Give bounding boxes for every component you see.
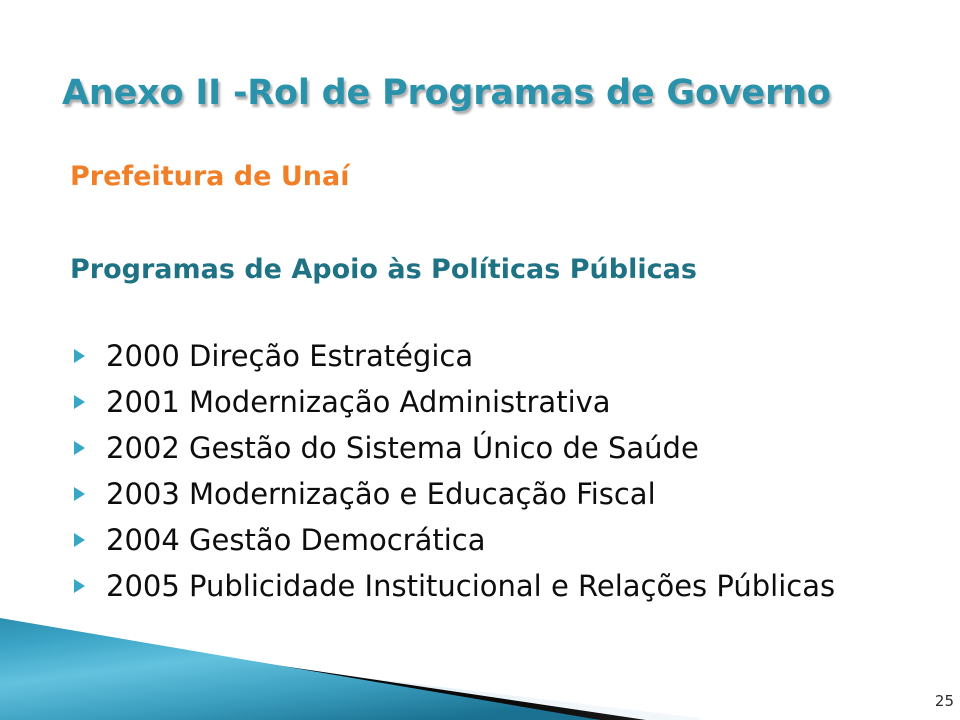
heading-spacer	[70, 194, 902, 253]
list-item-label: 2000 Direção Estratégica	[106, 339, 473, 373]
program-list: 2000 Direção Estratégica 2001 Modernizaç…	[70, 336, 902, 606]
list-item-label: 2001 Modernização Administrativa	[106, 385, 611, 419]
list-item-label: 2002 Gestão do Sistema Único de Saúde	[106, 431, 699, 465]
section-heading: Programas de Apoio às Políticas Públicas	[70, 253, 902, 287]
list-spacer	[70, 287, 902, 336]
triangle-right-icon	[74, 533, 85, 547]
slide-body: Prefeitura de Unaí Programas de Apoio às…	[70, 160, 902, 612]
triangle-right-icon	[74, 441, 85, 455]
list-item-label: 2003 Modernização e Educação Fiscal	[106, 477, 656, 511]
triangle-right-icon	[74, 579, 85, 593]
page-title: Anexo II -Rol de Programas de Governo	[62, 72, 922, 114]
organization-heading: Prefeitura de Unaí	[70, 160, 902, 194]
list-item-label: 2005 Publicidade Institucional e Relaçõe…	[106, 569, 835, 603]
list-item: 2002 Gestão do Sistema Único de Saúde	[70, 428, 902, 468]
list-item: 2003 Modernização e Educação Fiscal	[70, 474, 902, 514]
triangle-right-icon	[74, 395, 85, 409]
list-item: 2001 Modernização Administrativa	[70, 382, 902, 422]
triangle-right-icon	[74, 487, 85, 501]
page-number: 25	[935, 692, 954, 710]
slide-canvas: Anexo II -Rol de Programas de Governo Pr…	[0, 0, 960, 720]
triangle-right-icon	[74, 349, 85, 363]
list-item-label: 2004 Gestão Democrática	[106, 523, 486, 557]
list-item: 2005 Publicidade Institucional e Relaçõe…	[70, 566, 938, 606]
list-item: 2000 Direção Estratégica	[70, 336, 902, 376]
list-item: 2004 Gestão Democrática	[70, 520, 902, 560]
